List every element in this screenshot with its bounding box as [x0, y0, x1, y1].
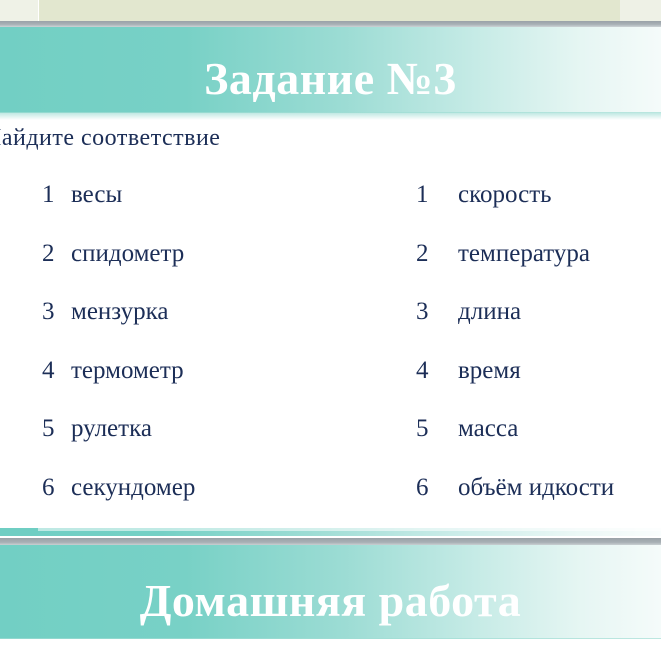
page-title: Задание №3	[0, 56, 661, 102]
item-number: 4	[416, 358, 458, 383]
list-item[interactable]: 6секундомер	[42, 475, 195, 534]
accent-bar-notch	[0, 528, 38, 536]
item-number: 1	[42, 182, 71, 207]
homework-title: Домашняя работа	[0, 578, 661, 624]
content-area: Найдите соответствие 1весы 2спидометр 3м…	[0, 120, 661, 528]
item-label: время	[458, 358, 521, 383]
list-item[interactable]: 4термометр	[42, 358, 195, 417]
list-item[interactable]: 2спидометр	[42, 241, 195, 300]
item-label: рулетка	[71, 416, 152, 441]
item-number: 2	[42, 241, 71, 266]
item-label: термометр	[71, 358, 184, 383]
list-item[interactable]: 3длина	[416, 299, 614, 358]
top-banner: Задание №3	[0, 27, 661, 113]
item-label: секундомер	[71, 475, 195, 500]
list-item[interactable]: 4время	[416, 358, 614, 417]
item-label: спидометр	[71, 241, 184, 266]
item-number: 3	[416, 299, 458, 324]
item-label: скорость	[458, 182, 552, 207]
item-number: 3	[42, 299, 71, 324]
accent-highlight	[38, 528, 661, 531]
item-label: длина	[458, 299, 521, 324]
footer-spacer	[0, 639, 661, 661]
slide-canvas: Задание №3 Найдите соответствие 1весы 2с…	[0, 0, 661, 661]
item-label: масса	[458, 416, 518, 441]
list-item[interactable]: 5масса	[416, 416, 614, 475]
item-number: 4	[42, 358, 71, 383]
item-label: весы	[71, 182, 122, 207]
quantities-column: 1скорость 2температура 3длина 4время 5ма…	[416, 182, 614, 533]
list-item[interactable]: 5рулетка	[42, 416, 195, 475]
item-number: 5	[42, 416, 71, 441]
item-label: объём идкости	[458, 475, 614, 500]
list-item[interactable]: 2температура	[416, 241, 614, 300]
item-label: мензурка	[71, 299, 169, 324]
top-strip-clipped-text	[0, 0, 661, 4]
list-item[interactable]: 1весы	[42, 182, 195, 241]
bottom-banner: Домашняя работа	[0, 545, 661, 639]
item-number: 1	[416, 182, 458, 207]
item-number: 2	[416, 241, 458, 266]
item-number: 6	[416, 475, 458, 500]
item-number: 6	[42, 475, 71, 500]
bottom-grey-rule	[0, 538, 661, 545]
top-clipped-strip	[0, 0, 661, 21]
item-number: 5	[416, 416, 458, 441]
list-item[interactable]: 3мензурка	[42, 299, 195, 358]
prompt-text: Найдите соответствие	[0, 126, 220, 150]
list-item[interactable]: 6объём идкости	[416, 475, 614, 534]
list-item[interactable]: 1скорость	[416, 182, 614, 241]
item-label: температура	[458, 241, 590, 266]
instruments-column: 1весы 2спидометр 3мензурка 4термометр 5р…	[42, 182, 195, 533]
